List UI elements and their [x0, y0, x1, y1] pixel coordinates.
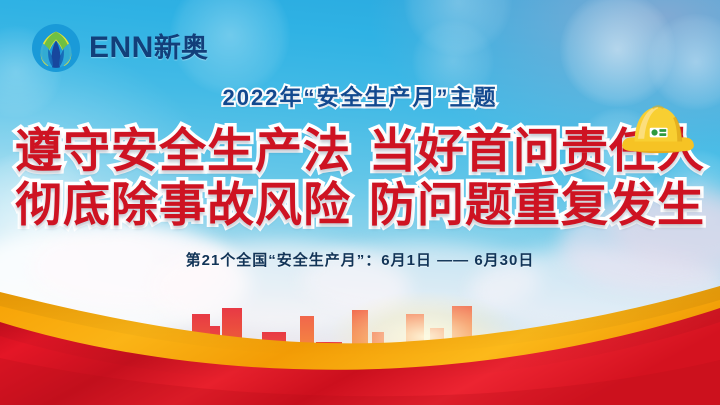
logo-text-cn: 新奥 [154, 33, 208, 63]
enn-logo[interactable]: ENN新奥 [32, 24, 208, 72]
safety-month-banner: ENN新奥 2022年“安全生产月”主题 遵守安全生产法当好首问责任人 彻底除事… [0, 0, 720, 405]
banner-headline: 遵守安全生产法当好首问责任人 彻底除事故风险防问题重复发生 [0, 124, 720, 232]
headline-line-2: 彻底除事故风险防问题重复发生 [0, 178, 720, 232]
headline-line-1: 遵守安全生产法当好首问责任人 [0, 124, 720, 178]
logo-text-latin: ENN [89, 31, 154, 64]
headline-line2-right: 防问题重复发生 [369, 178, 705, 231]
yellow-hard-hat-icon [616, 96, 700, 158]
headline-line1-left: 遵守安全生产法 [15, 124, 351, 177]
enn-logo-text: ENN新奥 [89, 33, 208, 63]
enn-flower-logo-icon [32, 24, 80, 72]
banner-subtitle: 2022年“安全生产月”主题 [0, 80, 720, 112]
headline-line2-left: 彻底除事故风险 [15, 178, 351, 231]
ribbon-waves [0, 270, 720, 405]
date-range-text: 第21个全国“安全生产月”：6月1日 —— 6月30日 [0, 249, 720, 270]
